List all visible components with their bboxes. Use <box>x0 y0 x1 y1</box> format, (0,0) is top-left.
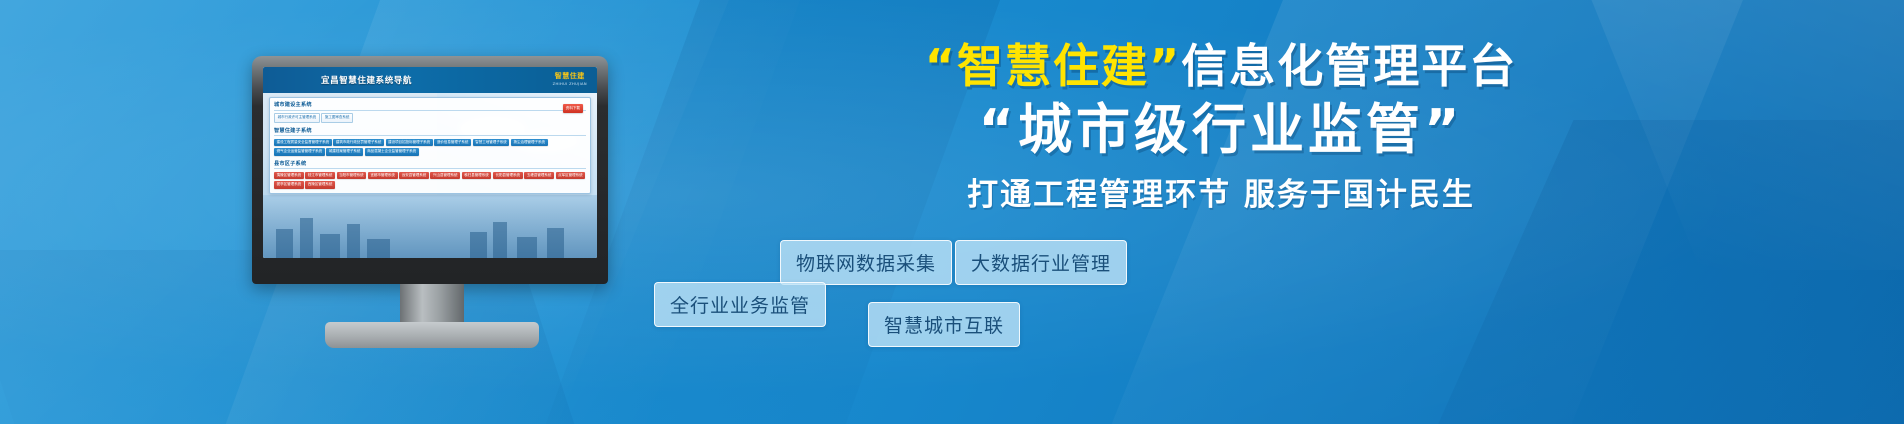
nav-chip[interactable]: 兴山县管理系统 <box>430 172 460 180</box>
feature-tag-smartcity[interactable]: 智慧城市互联 <box>868 302 1020 347</box>
building-shape <box>470 232 487 258</box>
imac-body: 宜昌智慧住建系统导航 智慧住建 ZHIHUI ZHUJIAN <box>252 56 608 284</box>
nav-chip[interactable]: 当阳市管理系统 <box>337 172 367 180</box>
nav-chip[interactable]: 枝江市管理系统 <box>305 172 335 180</box>
imac-mockup: 宜昌智慧住建系统导航 智慧住建 ZHIHUI ZHUJIAN <box>252 56 612 348</box>
building-shape <box>347 224 360 258</box>
nav-chip[interactable]: 远安县管理系统 <box>399 172 429 180</box>
nav-chip[interactable]: 商品混凝土企业监管管理子系统 <box>365 148 419 156</box>
building-shape <box>367 239 390 258</box>
nav-chip[interactable]: 猇亭区管理系统 <box>274 181 304 189</box>
promo-banner: 宜昌智慧住建系统导航 智慧住建 ZHIHUI ZHUJIAN <box>0 0 1904 424</box>
building-shape <box>493 222 506 258</box>
headline-block: “智慧住建”信息化管理平台 “城市级行业监管” 打通工程管理环节 服务于国计民生 <box>646 40 1796 214</box>
nav-chip[interactable]: 夷陵区管理系统 <box>274 172 304 180</box>
nav-chip[interactable]: 建设工程质量安全监督管理子系统 <box>274 139 332 147</box>
building-shape <box>276 229 293 258</box>
dashboard-title: 宜昌智慧住建系统导航 <box>321 74 412 86</box>
nav-chip[interactable]: 点军区管理系统 <box>556 172 586 180</box>
dashboard-logo-en: ZHIHUI ZHUJIAN <box>553 82 587 86</box>
nav-chip[interactable]: 城建档案管理子系统 <box>326 148 363 156</box>
dashboard-body: 资料下载 城市建设主系统 城市行政许可主管理系统 施工图审查系统 智慧住建子系统… <box>263 93 597 258</box>
nav-chip[interactable]: 城市行政许可主管理系统 <box>274 113 320 123</box>
section-title-county: 县市区子系统 <box>274 160 586 170</box>
headline-line-1: “智慧住建”信息化管理平台 <box>646 40 1796 93</box>
feature-tag-supervision[interactable]: 全行业业务监管 <box>654 282 826 327</box>
nav-chip[interactable]: 扬尘治理管理子系统 <box>511 139 548 147</box>
nav-chip[interactable]: 施工图审查系统 <box>321 113 353 123</box>
nav-chip[interactable]: 西陵区管理系统 <box>305 181 335 189</box>
building-shape <box>547 228 564 258</box>
chip-group-city-main: 城市行政许可主管理系统 施工图审查系统 <box>274 113 586 123</box>
chip-group-county: 夷陵区管理系统 枝江市管理系统 当阳市管理系统 宜都市管理系统 远安县管理系统 … <box>274 172 586 189</box>
headline-rest: 信息化管理平台 <box>1181 39 1517 93</box>
dashboard-nav-panel: 资料下载 城市建设主系统 城市行政许可主管理系统 施工图审查系统 智慧住建子系统… <box>269 97 591 194</box>
subtitle: 打通工程管理环节 服务于国计民生 <box>646 169 1796 214</box>
nav-chip[interactable]: 造价信息管理子系统 <box>434 139 471 147</box>
nav-chip[interactable]: 秭归县管理系统 <box>462 172 492 180</box>
section-title-smart-sub: 智慧住建子系统 <box>274 127 586 137</box>
nav-chip[interactable]: 智慧工地管理子系统 <box>473 139 510 147</box>
download-button[interactable]: 资料下载 <box>563 104 583 113</box>
feature-tag-bigdata[interactable]: 大数据行业管理 <box>955 240 1127 285</box>
chip-group-smart-sub: 建设工程质量安全监督管理子系统 建筑市政行政处罚管理子系统 建设项目招投标管理子… <box>274 139 586 156</box>
building-shape <box>517 237 537 258</box>
nav-chip[interactable]: 五峰县管理系统 <box>524 172 554 180</box>
section-title-city-main: 城市建设主系统 <box>274 101 586 111</box>
headline-line-2: “城市级行业监管” <box>646 99 1796 161</box>
imac-screen: 宜昌智慧住建系统导航 智慧住建 ZHIHUI ZHUJIAN <box>263 67 597 258</box>
feature-tag-group: 物联网数据采集 大数据行业管理 全行业业务监管 智慧城市互联 <box>640 230 1820 360</box>
dashboard-logo-cn: 智慧住建 <box>553 71 587 81</box>
nav-chip[interactable]: 建设项目招投标管理子系统 <box>386 139 433 147</box>
feature-tag-iot[interactable]: 物联网数据采集 <box>780 240 952 285</box>
nav-chip[interactable]: 燃气企业运营监管管理子系统 <box>274 148 325 156</box>
building-shape <box>320 234 340 258</box>
nav-chip[interactable]: 宜都市管理系统 <box>368 172 398 180</box>
headline-highlight: “智慧住建” <box>925 39 1181 93</box>
building-shape <box>300 218 313 258</box>
imac-neck <box>400 284 464 324</box>
imac-foot <box>325 322 539 348</box>
dashboard-logo: 智慧住建 ZHIHUI ZHUJIAN <box>553 71 587 86</box>
dashboard-header: 宜昌智慧住建系统导航 智慧住建 ZHIHUI ZHUJIAN <box>263 67 597 93</box>
dashboard-screenshot: 宜昌智慧住建系统导航 智慧住建 ZHIHUI ZHUJIAN <box>263 67 597 258</box>
nav-chip[interactable]: 长阳县管理系统 <box>493 172 523 180</box>
nav-chip[interactable]: 建筑市政行政处罚管理子系统 <box>333 139 384 147</box>
city-skyline <box>263 195 597 258</box>
